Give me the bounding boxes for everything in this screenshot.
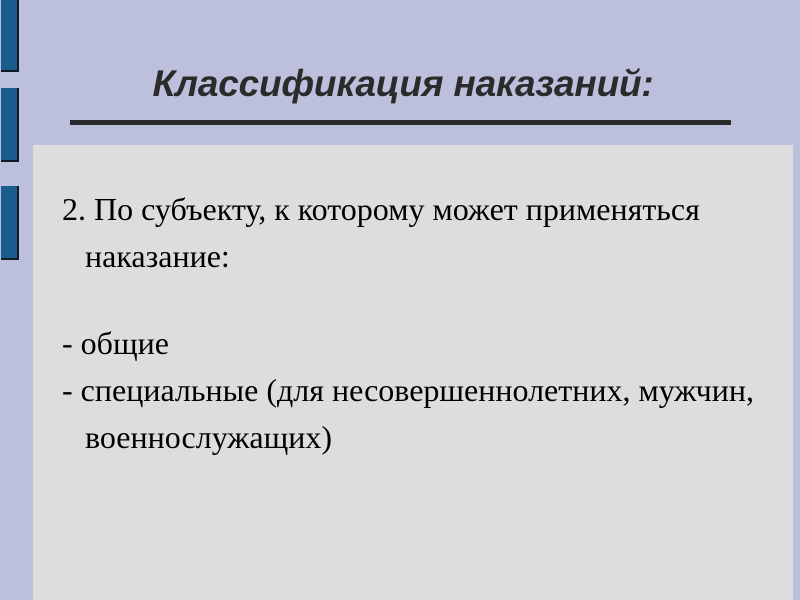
list-item: - общие bbox=[62, 320, 762, 367]
title-underline bbox=[70, 120, 731, 125]
slide-body: 2. По субъекту, к которому может применя… bbox=[62, 186, 762, 461]
list-item: - специальные (для несовершеннолетних, м… bbox=[62, 367, 762, 461]
slide-title: Классификация наказаний: bbox=[33, 62, 773, 106]
body-spacer bbox=[62, 280, 762, 320]
blue-bar-3 bbox=[1, 186, 19, 260]
body-paragraph: 2. По субъекту, к которому может применя… bbox=[62, 186, 762, 280]
content-panel: 2. По субъекту, к которому может применя… bbox=[33, 145, 793, 600]
title-band: Классификация наказаний: bbox=[0, 0, 800, 145]
presentation-slide: Классификация наказаний: 2. По субъекту,… bbox=[0, 0, 800, 600]
